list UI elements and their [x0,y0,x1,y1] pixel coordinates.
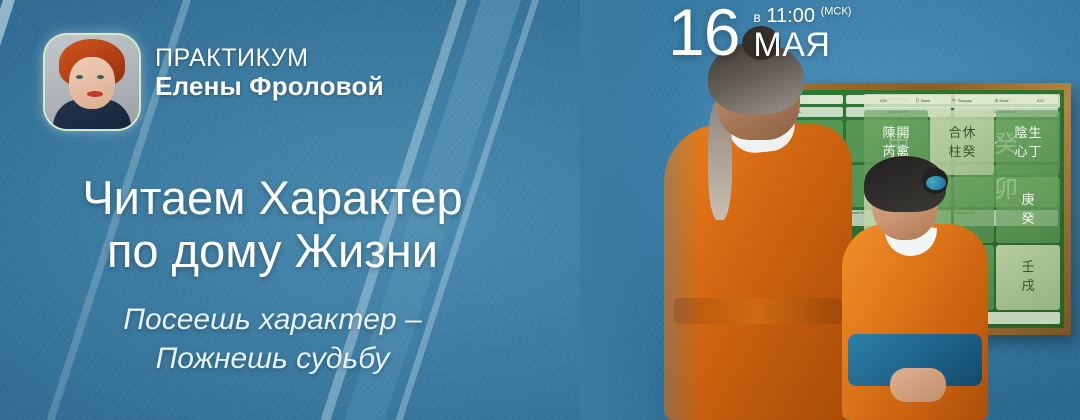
event-datetime-right: в 11:00 (МСК) МАЯ [753,2,851,64]
event-month: МАЯ [753,28,851,64]
avatar-face [69,57,115,109]
avatar-eye-right [97,75,104,79]
brand-block: ПРАКТИКУМ Елены Фроловой [155,44,384,101]
qimen-palace: 壬戌 [996,245,1060,310]
qimen-palace: 庚癸 [996,177,1060,242]
title-line-2: по дому Жизни [0,225,545,278]
event-day: 16 [668,2,739,63]
title-line-1: Читаем Характер [0,172,545,225]
young-student-figure [838,158,988,420]
qimen-direction-sw: ЮЗ [1021,94,1060,108]
qimen-branch-wei: 未 Коза [982,94,1021,108]
event-time: 11:00 [766,5,815,27]
student-hands [890,368,946,402]
qimen-branch-wu: 午 Лошадь [942,94,981,108]
qimen-branch-si: 巳 Змея [903,94,942,108]
promo-banner: ЧАС МЕСЯЦ ГОД Огонь Инь 丁 未 Золото Инь К… [0,0,1080,420]
avatar-eye-left [76,75,83,79]
avatar [45,35,139,129]
tagline-line-2: Пожнешь судьбу [0,339,545,378]
event-time-row: в 11:00 (МСК) [753,6,851,26]
brand-line-author: Елены Фроловой [155,72,384,101]
brand-line-practicum: ПРАКТИКУМ [155,44,384,72]
tagline: Посеешь характер – Пожнешь судьбу [0,300,545,378]
event-datetime: 16 в 11:00 (МСК) МАЯ [668,2,851,64]
page-title: Читаем Характер по дому Жизни [0,172,545,277]
event-time-prefix: в [753,9,760,25]
qimen-top-band: ЮВ 巳 Змея 午 Лошадь 未 Коза ЮЗ [864,94,1060,108]
event-timezone: (МСК) [821,5,852,17]
qimen-direction-se: ЮВ [864,94,903,108]
qimen-palace: 陰生心丁 [996,110,1060,175]
tagline-line-1: Посеешь характер – [0,300,545,339]
avatar-lips [87,91,103,97]
student-hair-ornament [926,176,946,190]
